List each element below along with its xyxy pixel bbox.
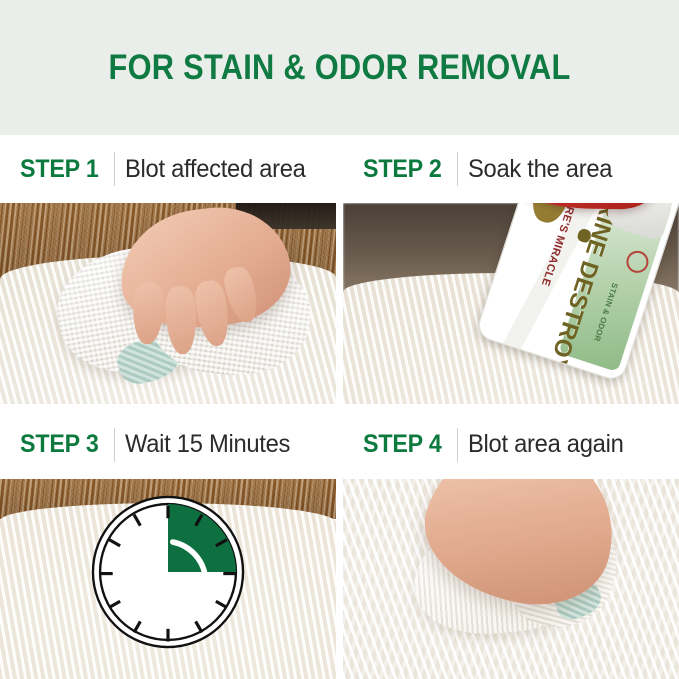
step-1-tag: STEP 1 xyxy=(20,155,107,184)
step-3-label-strip: STEP 3 Wait 15 Minutes xyxy=(0,411,336,479)
step-1-text: Blot affected area xyxy=(125,155,306,184)
step-3-divider xyxy=(114,428,115,462)
step-4-text: Blot area again xyxy=(468,430,624,459)
step-4-tag: STEP 4 xyxy=(363,430,450,459)
step-4-divider xyxy=(457,428,458,462)
horizontal-gutter xyxy=(0,404,679,411)
step-2-label-strip: STEP 2 Soak the area xyxy=(343,135,679,203)
header-banner: FOR STAIN & ODOR REMOVAL xyxy=(0,0,679,135)
step-panel-2: STEP 2 Soak the area NATURE'S MIRACLE UR… xyxy=(343,135,679,404)
step-4-label-strip: STEP 4 Blot area again xyxy=(343,411,679,479)
steps-grid: STEP 1 Blot affected area xyxy=(0,135,679,679)
step-2-tag: STEP 2 xyxy=(363,155,450,184)
step-1-label-strip: STEP 1 Blot affected area xyxy=(0,135,336,203)
page-title: FOR STAIN & ODOR REMOVAL xyxy=(108,48,570,88)
step-3-photo xyxy=(0,479,336,679)
step-panel-1: STEP 1 Blot affected area xyxy=(0,135,336,404)
step-2-text: Soak the area xyxy=(468,155,612,184)
step-4-photo xyxy=(343,479,679,679)
step-panel-4: STEP 4 Blot area again xyxy=(343,411,679,679)
clock-icon xyxy=(89,493,247,651)
step-3-tag: STEP 3 xyxy=(20,430,107,459)
step-2-photo: NATURE'S MIRACLE URINE DESTROYER STAIN &… xyxy=(343,203,679,404)
clock-illustration xyxy=(89,493,247,656)
stain-odor-removal-infographic: FOR STAIN & ODOR REMOVAL STEP 1 Blot aff… xyxy=(0,0,679,679)
step-1-divider xyxy=(114,152,115,186)
step-panel-3: STEP 3 Wait 15 Minutes xyxy=(0,411,336,679)
step-1-photo xyxy=(0,203,336,404)
step-3-text: Wait 15 Minutes xyxy=(125,430,290,459)
step-2-divider xyxy=(457,152,458,186)
